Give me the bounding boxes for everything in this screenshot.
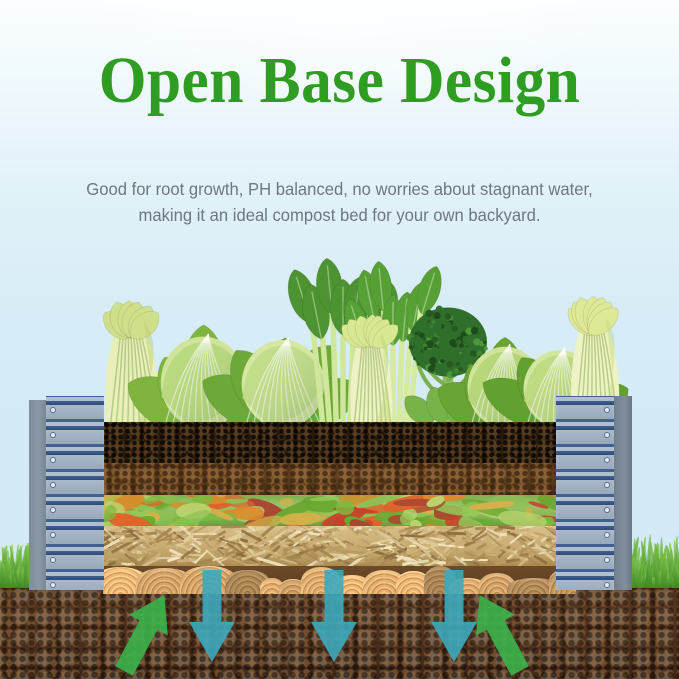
panel-screw: [51, 508, 55, 512]
layer-coarse-mulch: [103, 463, 576, 495]
panel-screw: [605, 533, 609, 537]
planter-slat: [556, 444, 614, 472]
panel-screw: [605, 508, 609, 512]
straw-piece: [475, 526, 487, 530]
panel-screw: [605, 408, 609, 412]
planter-slat: [46, 519, 104, 547]
slat-groove: [46, 426, 104, 430]
subtitle-line-1: Good for root growth, PH balanced, no wo…: [86, 179, 592, 199]
planter-slat: [46, 444, 104, 472]
subtitle-line-2: making it an ideal compost bed for your …: [34, 202, 645, 228]
straw-piece: [447, 532, 466, 536]
drainage-arrow-down-2: [311, 570, 357, 662]
planter-slat: [556, 469, 614, 497]
planter-slat: [556, 494, 614, 522]
straw-piece: [185, 545, 193, 548]
panel-screw: [605, 458, 609, 462]
infographic-canvas: Open Base Design Good for root growth, P…: [0, 0, 679, 679]
compost-scrap: [281, 495, 313, 496]
slat-groove: [556, 501, 614, 505]
panel-screw: [51, 433, 55, 437]
page-subtitle: Good for root growth, PH balanced, no wo…: [17, 176, 662, 228]
panel-screw: [51, 533, 55, 537]
planter-slat: [556, 519, 614, 547]
slat-groove: [556, 526, 614, 530]
planter-slat: [46, 494, 104, 522]
panel-screw: [605, 483, 609, 487]
slat-groove: [556, 551, 614, 555]
slat-groove: [46, 476, 104, 480]
airflow-drainage-arrows: [0, 560, 679, 679]
straw-piece: [256, 526, 266, 530]
slat-groove: [556, 476, 614, 480]
compost-scrap: [336, 499, 354, 514]
page-title: Open Base Design: [24, 48, 655, 114]
slat-groove: [556, 451, 614, 455]
slat-groove: [46, 551, 104, 555]
panel-screw: [51, 408, 55, 412]
slat-groove: [46, 451, 104, 455]
slat-groove: [556, 426, 614, 430]
panel-screw: [605, 433, 609, 437]
panel-screw: [51, 458, 55, 462]
aeration-arrow-up-right: [460, 585, 539, 679]
planter-slat: [46, 419, 104, 447]
straw-piece: [430, 537, 444, 541]
slat-groove: [46, 401, 104, 405]
drainage-arrow-down-1: [189, 570, 235, 662]
drainage-arrow-down-3: [431, 570, 477, 662]
aeration-arrow-up-left: [105, 585, 184, 679]
layer-green-kitchen-scraps: [103, 495, 576, 526]
slat-groove: [46, 501, 104, 505]
arrows-svg: [0, 560, 679, 679]
compost-scrap: [295, 514, 310, 525]
slat-groove: [46, 526, 104, 530]
planter-slat: [46, 469, 104, 497]
planter-slat: [556, 419, 614, 447]
panel-screw: [51, 483, 55, 487]
straw-piece: [221, 526, 249, 529]
compost-scrap: [498, 509, 548, 526]
slat-groove: [556, 401, 614, 405]
layer-topsoil-compost: [103, 422, 576, 463]
